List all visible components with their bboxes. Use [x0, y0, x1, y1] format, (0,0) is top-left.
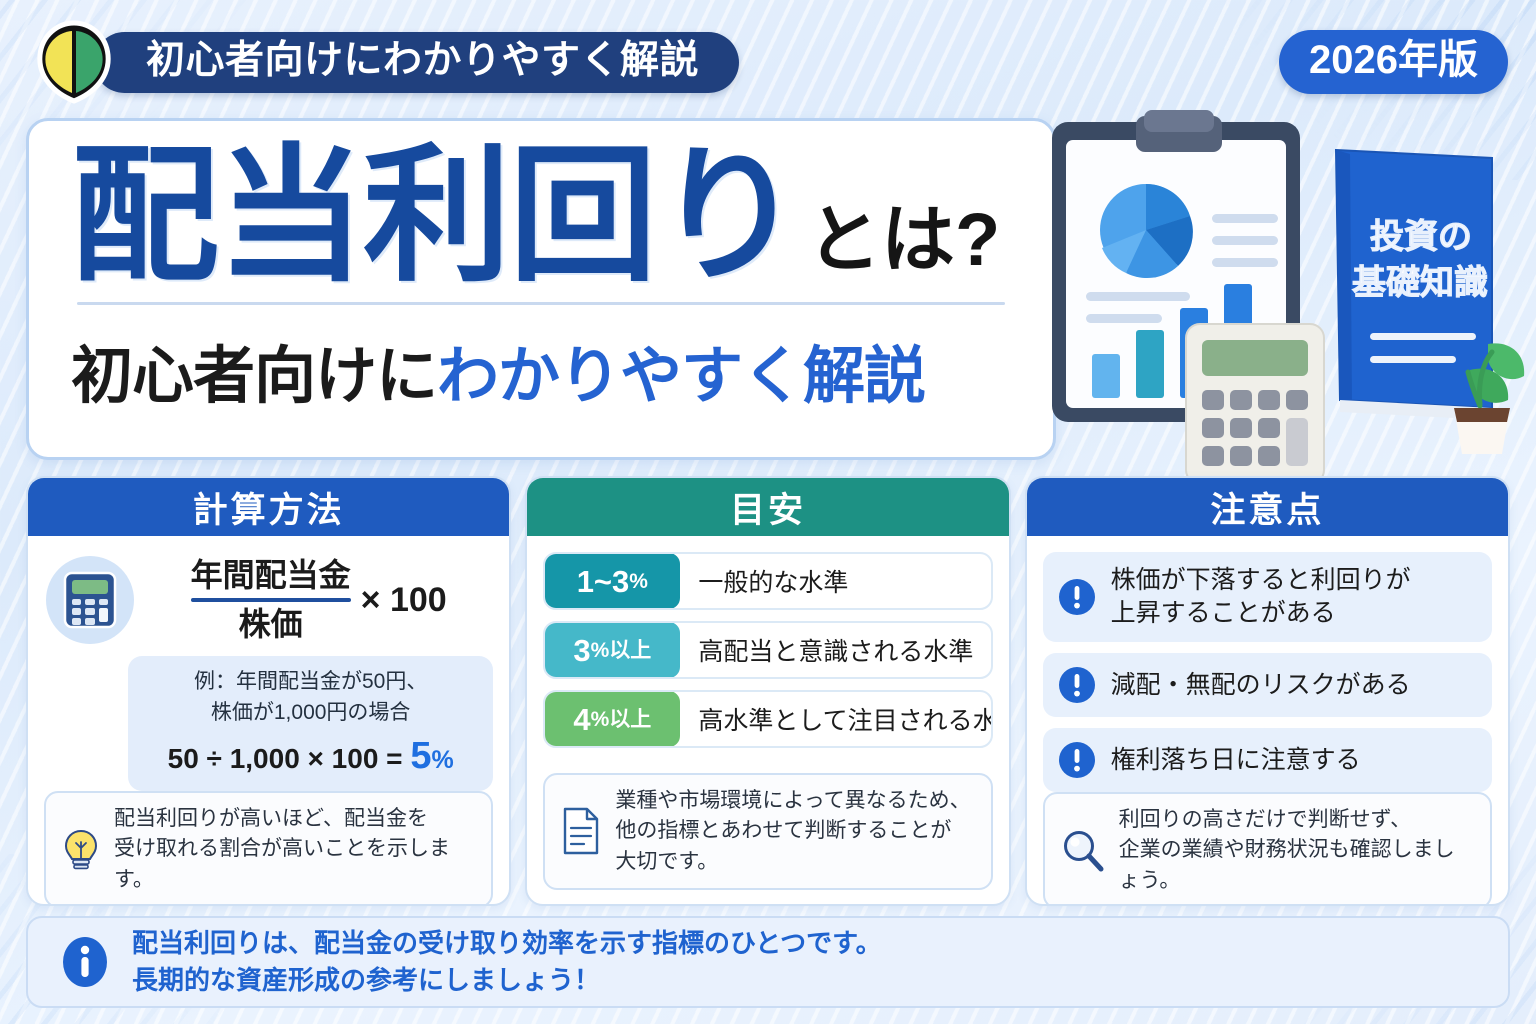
example-line-2: 株価が1,000円の場合: [144, 698, 477, 728]
page-subtitle-accent: わかりやすく解説: [437, 342, 925, 411]
benchmark-badge-value: 3: [573, 635, 590, 666]
book-title-line1: 投資の: [1370, 218, 1472, 256]
benchmark-row: 3%以上 高配当と意識される水準: [543, 621, 992, 679]
exclamation-circle-icon: [1057, 740, 1097, 780]
benchmark-badge: 4%以上: [544, 691, 680, 747]
footer-banner: 配当利回りは、配当金の受け取り効率を示す指標のひとつです。 長期的な資産形成の参…: [26, 916, 1510, 1008]
info-columns: 計算方法: [26, 476, 1510, 906]
example-calc-unit: %: [431, 746, 453, 774]
caution-item-line-1: 株価が下落すると利回りが: [1111, 564, 1411, 597]
pie-chart-icon: [1100, 184, 1193, 278]
benchmark-badge-unit: %以上: [591, 640, 652, 661]
example-calc-value: 5: [410, 735, 431, 777]
caution-item: 株価が下落すると利回りが 上昇することがある: [1043, 552, 1492, 642]
column-cautions: 注意点 株価が下落すると利回りが 上昇することがある: [1025, 476, 1510, 906]
benchmark-note-line-1: 業種や市場環境によって異なるため、: [615, 786, 970, 816]
caution-item-text: 株価が下落すると利回りが 上昇することがある: [1111, 564, 1411, 630]
document-icon: [560, 806, 602, 856]
benchmark-list: 1~3% 一般的な水準 3%以上 高配当と意識される水準 4%以上 高水準として…: [543, 552, 992, 748]
example-box: 例：年間配当金が50円、 株価が1,000円の場合 50 ÷ 1,000 × 1…: [128, 656, 493, 791]
header-bar: 初心者向けにわかりやすく解説 2026年版: [28, 22, 1508, 102]
footer-line-2: 長期的な資産形成の参考にしましょう！: [132, 962, 882, 999]
column-benchmark-heading: 目安: [527, 478, 1008, 536]
magnifier-icon: [1060, 828, 1106, 874]
benchmark-badge-unit: %以上: [591, 709, 652, 730]
calculation-note-line-1: 配当利回りが高いほど、配当金を: [114, 804, 476, 834]
calculation-note-text: 配当利回りが高いほど、配当金を 受け取れる割合が高いことを示します。: [114, 804, 476, 895]
page-title-suffix: とは?: [807, 205, 1000, 287]
column-cautions-heading: 注意点: [1027, 478, 1508, 536]
fraction-bar: [191, 598, 351, 602]
caution-item-line-1: 権利落ち日に注意する: [1111, 744, 1361, 777]
benchmark-badge-value: 1~3: [577, 566, 630, 597]
caution-item: 減配・無配のリスクがある: [1043, 653, 1492, 717]
calculator-icon-badge: [46, 556, 134, 644]
formula-multiplier: × 100: [361, 581, 447, 620]
page-subtitle: 初心者向けにわかりやすく解説: [71, 325, 1011, 415]
hero-card: 配当利回り とは? 初心者向けにわかりやすく解説: [26, 118, 1056, 460]
lightbulb-icon: [61, 828, 101, 872]
exclamation-circle-icon: [1057, 665, 1097, 705]
benchmark-row: 4%以上 高水準として注目される水準: [543, 690, 992, 748]
benchmark-label: 高配当と意識される水準: [680, 623, 973, 677]
example-line-1: 例：年間配当金が50円、: [144, 667, 477, 697]
page-subtitle-plain: 初心者向けに: [71, 342, 437, 411]
formula-row: 年間配当金 株価 × 100: [44, 552, 493, 644]
beginner-leaf-mark-icon: [28, 19, 120, 105]
page-title-main: 配当利回り: [71, 147, 801, 288]
book-title-line2: 基礎知識: [1352, 264, 1488, 302]
fraction-denominator: 株価: [191, 605, 351, 644]
hero-divider: [77, 302, 1005, 305]
info-circle-icon: [58, 935, 112, 989]
eyebrow-badge: 初心者向けにわかりやすく解説: [94, 32, 739, 93]
cautions-list: 株価が下落すると利回りが 上昇することがある 減配・無配のリスクがある: [1043, 552, 1492, 792]
benchmark-note-line-3: 大切です。: [615, 847, 970, 877]
caution-item-line-1: 減配・無配のリスクがある: [1111, 669, 1411, 702]
formula: 年間配当金 株価 × 100: [146, 556, 491, 644]
fraction-numerator: 年間配当金: [191, 556, 351, 595]
column-benchmark: 目安 1~3% 一般的な水準 3%以上 高配当と意識される水準 4%以上 高水準…: [525, 476, 1010, 906]
cautions-note: 利回りの高さだけで判断せず、 企業の業績や財務状況も確認しましょう。: [1043, 792, 1492, 906]
calculation-note: 配当利回りが高いほど、配当金を 受け取れる割合が高いことを示します。: [44, 791, 493, 906]
benchmark-note-line-2: 他の指標とあわせて判断することが: [615, 816, 970, 846]
cautions-note-line-2: 企業の業績や財務状況も確認しましょう。: [1119, 835, 1475, 896]
cautions-note-line-1: 利回りの高さだけで判断せず、: [1119, 805, 1475, 835]
year-badge: 2026年版: [1279, 30, 1508, 94]
calculator-icon: [1186, 324, 1324, 476]
benchmark-badge-value: 4: [573, 704, 590, 735]
column-benchmark-body: 1~3% 一般的な水準 3%以上 高配当と意識される水準 4%以上 高水準として…: [527, 536, 1008, 904]
benchmark-note-text: 業種や市場環境によって異なるため、 他の指標とあわせて判断することが 大切です。: [615, 786, 970, 877]
example-calculation: 50 ÷ 1,000 × 100 = 5%: [144, 735, 477, 778]
calculator-icon: [63, 571, 117, 629]
benchmark-badge: 3%以上: [544, 622, 680, 678]
example-calc-prefix: 50 ÷ 1,000 × 100 =: [168, 743, 411, 774]
column-calculation-heading: 計算方法: [28, 478, 509, 536]
hero-illustration: 投資の 基礎知識: [1040, 108, 1530, 476]
benchmark-label: 一般的な水準: [680, 554, 848, 608]
benchmark-badge: 1~3%: [544, 553, 680, 609]
footer-line-1: 配当利回りは、配当金の受け取り効率を示す指標のひとつです。: [132, 925, 882, 962]
benchmark-badge-unit: %: [629, 571, 648, 592]
caution-item-text: 権利落ち日に注意する: [1111, 744, 1361, 777]
calculation-note-line-2: 受け取れる割合が高いことを示します。: [114, 834, 476, 895]
caution-item: 権利落ち日に注意する: [1043, 728, 1492, 792]
caution-item-text: 減配・無配のリスクがある: [1111, 669, 1411, 702]
benchmark-row: 1~3% 一般的な水準: [543, 552, 992, 610]
column-calculation-body: 年間配当金 株価 × 100 例：年間配当金が50円、 株価が1,000円の場合…: [28, 536, 509, 906]
column-calculation: 計算方法: [26, 476, 511, 906]
benchmark-label: 高水準として注目される水準: [680, 692, 992, 746]
fraction: 年間配当金 株価: [191, 556, 351, 644]
cautions-note-text: 利回りの高さだけで判断せず、 企業の業績や財務状況も確認しましょう。: [1119, 805, 1475, 896]
page-title: 配当利回り とは?: [71, 147, 1011, 288]
column-cautions-body: 株価が下落すると利回りが 上昇することがある 減配・無配のリスクがある: [1027, 536, 1508, 906]
exclamation-circle-icon: [1057, 577, 1097, 617]
benchmark-note: 業種や市場環境によって異なるため、 他の指標とあわせて判断することが 大切です。: [543, 773, 992, 890]
footer-text: 配当利回りは、配当金の受け取り効率を示す指標のひとつです。 長期的な資産形成の参…: [132, 925, 882, 999]
caution-item-line-2: 上昇することがある: [1111, 597, 1411, 630]
header-left-group: 初心者向けにわかりやすく解説: [28, 19, 739, 105]
